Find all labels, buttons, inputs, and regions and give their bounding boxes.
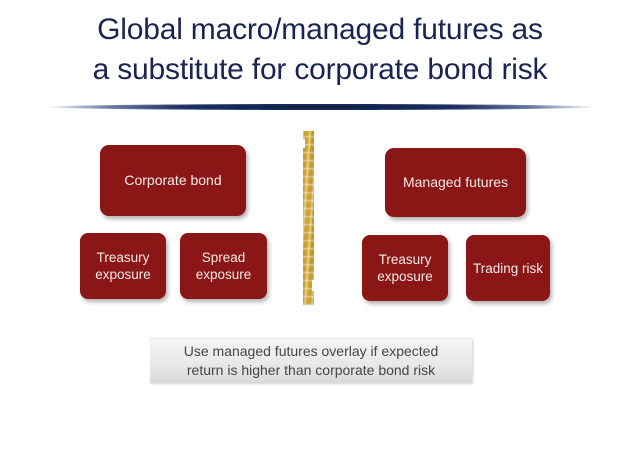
caption-line-1: Use managed futures overlay if expected: [184, 342, 438, 361]
box-left-treasury-exposure[interactable]: Treasury exposure: [80, 233, 166, 299]
gold-divider-icon: [303, 131, 314, 305]
title-divider-rule: [45, 104, 597, 110]
page-title-line-1: Global macro/managed futures as: [0, 10, 640, 50]
box-left-spread-exposure[interactable]: Spread exposure: [180, 233, 267, 299]
caption-line-2: return is higher than corporate bond ris…: [187, 361, 435, 380]
page-title: Global macro/managed futures as a substi…: [0, 10, 640, 90]
box-corporate-bond[interactable]: Corporate bond: [100, 145, 246, 216]
slide-canvas: Global macro/managed futures as a substi…: [0, 0, 640, 473]
footer: AMPHI Research and Trading Industry Prov…: [0, 410, 640, 473]
box-right-treasury-exposure[interactable]: Treasury exposure: [362, 235, 448, 301]
box-right-trading-risk[interactable]: Trading risk: [466, 235, 550, 301]
caption-box: Use managed futures overlay if expected …: [150, 338, 472, 383]
page-title-line-2: a substitute for corporate bond risk: [0, 50, 640, 90]
box-managed-futures[interactable]: Managed futures: [385, 148, 526, 217]
